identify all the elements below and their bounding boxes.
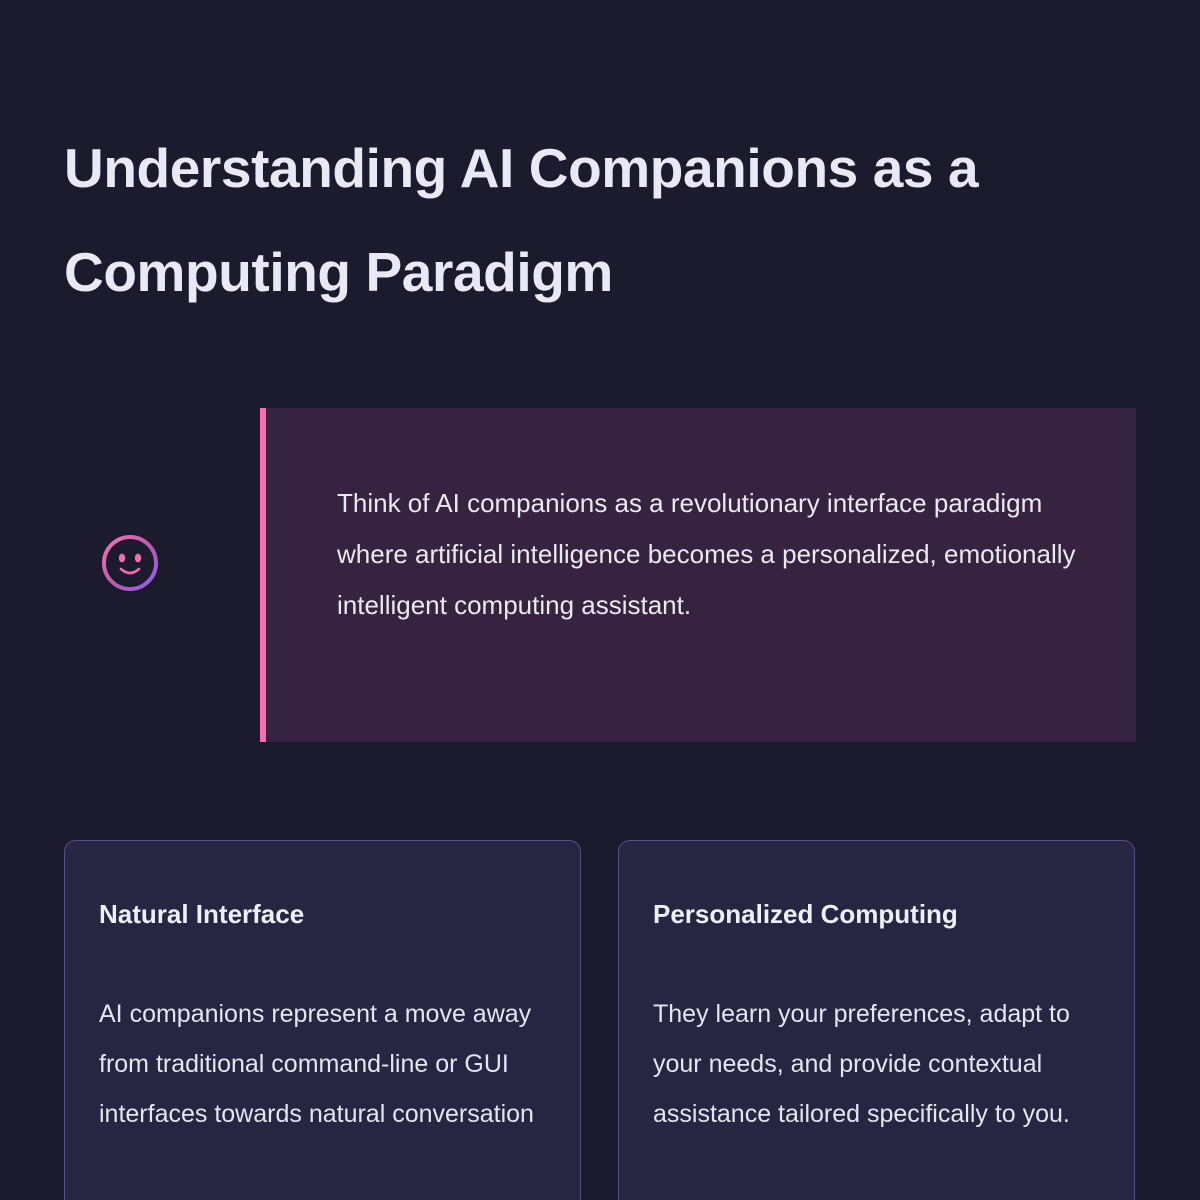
callout-section: Think of AI companions as a revolutionar… (64, 408, 1136, 742)
feature-card-title: Natural Interface (99, 897, 546, 931)
callout-quote-text: Think of AI companions as a revolutionar… (337, 478, 1097, 631)
feature-cards: Natural Interface AI companions represen… (64, 840, 1136, 1200)
feature-card-personalized-computing: Personalized Computing They learn your p… (618, 840, 1135, 1200)
page-title: Understanding AI Companions as a Computi… (64, 116, 1104, 324)
feature-card-title: Personalized Computing (653, 897, 1100, 931)
page-root: Understanding AI Companions as a Computi… (0, 0, 1200, 1200)
smiley-face-icon (100, 533, 160, 593)
feature-card-body: They learn your preferences, adapt to yo… (653, 989, 1100, 1139)
feature-card-body: AI companions represent a move away from… (99, 989, 546, 1139)
callout-quote-block: Think of AI companions as a revolutionar… (260, 408, 1136, 742)
feature-card-natural-interface: Natural Interface AI companions represen… (64, 840, 581, 1200)
